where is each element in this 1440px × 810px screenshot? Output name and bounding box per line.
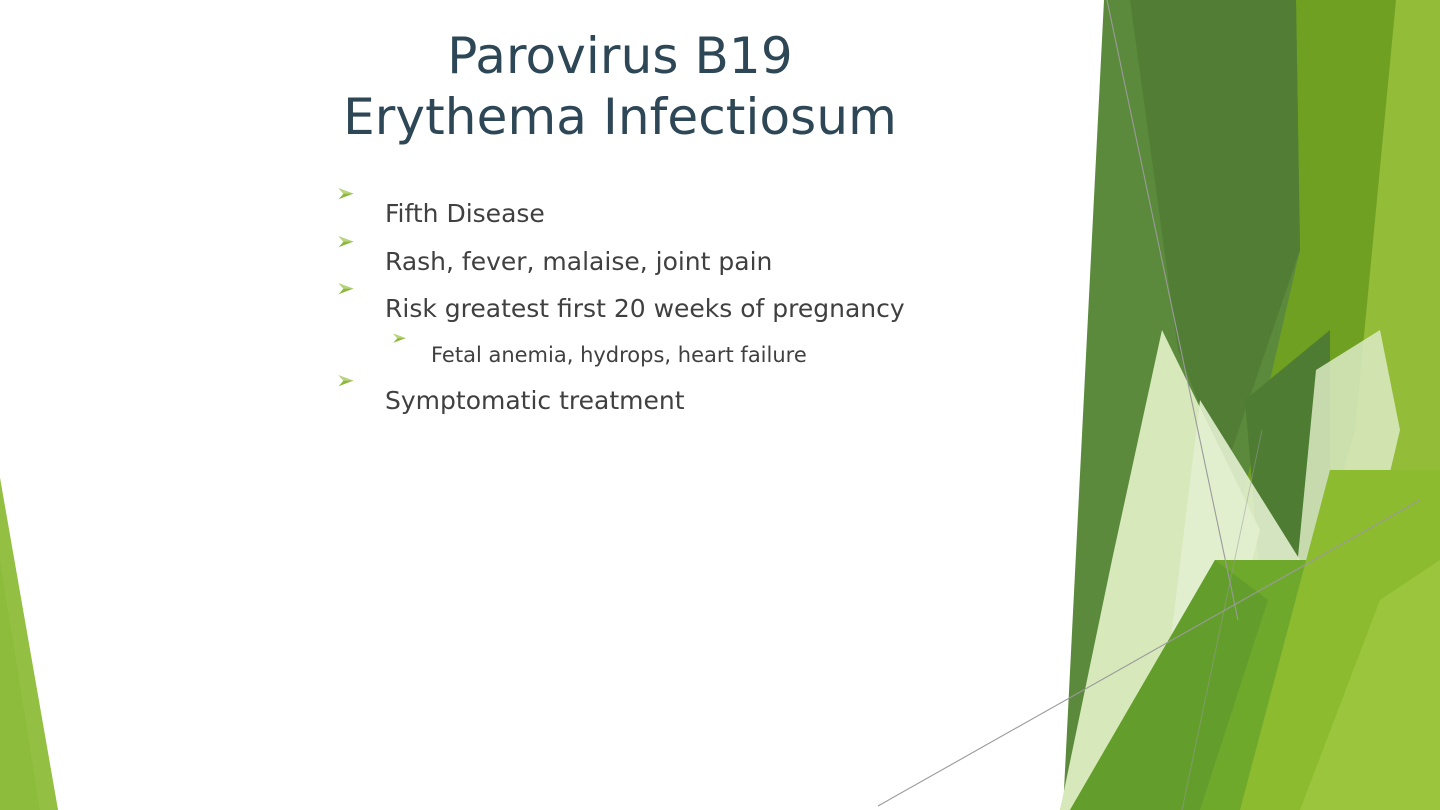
slide-title: Parovirus B19 Erythema Infectiosum [100,26,1140,148]
decor-hairline-pale-sheet [1182,430,1262,810]
bullet-item-label: Fetal anemia, hydrops, heart failure [431,333,1076,377]
slide-body-list: Fifth Disease Rash, fever, malaise, join… [336,190,1076,424]
decor-hairline-shallow [878,500,1420,806]
bullet-item: Risk greatest first 20 weeks of pregnanc… [336,285,1076,333]
slide-title-line-1: Parovirus B19 [100,26,1140,87]
decor-shape-bright-bottom [1240,470,1440,810]
green-arrowhead-bullet-icon [336,385,385,409]
green-arrowhead-bullet-icon [336,293,385,317]
bullet-item-label: Risk greatest first 20 weeks of pregnanc… [385,285,1076,333]
decor-shape-dark-facet [1130,0,1300,470]
bullet-item: Symptomatic treatment [336,377,1076,425]
decor-shape-band-shadow [1070,560,1268,810]
bullet-item-label: Rash, fever, malaise, joint pain [385,238,1076,286]
green-arrowhead-bullet-icon [336,198,385,222]
decor-shape-bright-corner [1300,560,1440,810]
decor-shape-left-sliver-highlight [0,478,58,810]
decor-shape-paler-sheet [1150,400,1300,810]
bullet-item-label: Symptomatic treatment [385,377,1076,425]
green-arrowhead-bullet-icon [391,342,431,362]
decor-shape-deep-facet [1245,330,1330,600]
decor-shape-mid-band [1070,560,1330,810]
bullet-item-sub: Fetal anemia, hydrops, heart failure [336,333,1076,377]
bullet-item-label: Fifth Disease [385,190,1076,238]
green-arrowhead-bullet-icon [336,246,385,270]
decor-shape-light-right [1300,0,1440,810]
decor-shape-left-sliver [0,478,58,810]
bullet-item: Rash, fever, malaise, joint pain [336,238,1076,286]
decor-shape-pale-sheet [1060,330,1260,810]
slide-title-line-2: Erythema Infectiosum [100,87,1140,148]
decor-shape-mid-green [1150,0,1396,810]
bullet-item: Fifth Disease [336,190,1076,238]
slide: Parovirus B19 Erythema Infectiosum Fifth… [0,0,1440,810]
decor-shape-pale-right-wedge [1290,330,1400,700]
